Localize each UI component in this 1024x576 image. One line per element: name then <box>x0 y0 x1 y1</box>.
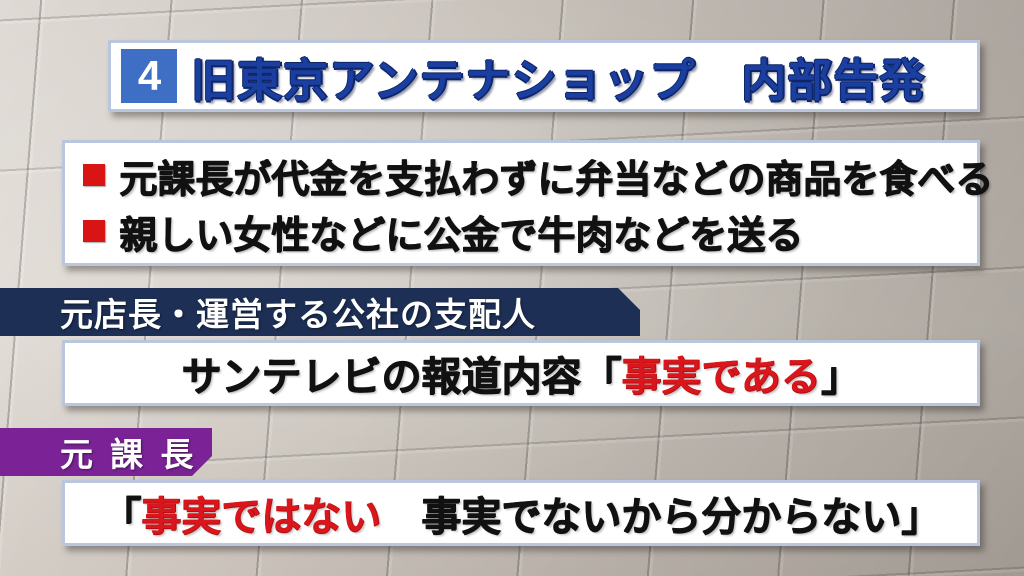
quote-segment-highlight: 事実ではない <box>141 495 381 539</box>
title-panel: 4 旧東京アンテナショップ 内部告発 <box>108 40 980 112</box>
square-bullet-icon <box>83 164 105 186</box>
list-item: 親しい女性などに公金で牛肉などを送る <box>83 203 803 259</box>
bullet-item-label: 親しい女性などに公金で牛肉などを送る <box>119 204 803 259</box>
topic-number-badge: 4 <box>121 49 177 103</box>
bullet-list-panel: 元課長が代金を支払わずに弁当などの商品を食べる 親しい女性などに公金で牛肉などを… <box>62 140 980 266</box>
bullet-item-label: 元課長が代金を支払わずに弁当などの商品を食べる <box>119 148 993 203</box>
quote-panel-former-store-manager: サンテレビの報道内容「事実である」 <box>62 340 980 406</box>
speaker-label-former-section-chief: 元 課 長 <box>0 428 212 476</box>
quote-text: 「事実ではない 事実でないから分からない」 <box>101 484 941 542</box>
quote-segment: 「 <box>101 495 141 539</box>
quote-panel-former-section-chief: 「事実ではない 事実でないから分からない」 <box>62 480 980 546</box>
square-bullet-icon <box>83 220 105 242</box>
quote-segment-highlight: 事実である <box>621 355 821 399</box>
quote-segment: 事実でないから分からない」 <box>381 495 941 539</box>
quote-segment: サンテレビの報道内容「 <box>181 355 621 399</box>
quote-segment: 」 <box>821 355 861 399</box>
speaker-label-former-store-manager: 元店長・運営する公社の支配人 <box>0 288 640 336</box>
broadcast-graphic-stage: 4 旧東京アンテナショップ 内部告発 元課長が代金を支払わずに弁当などの商品を食… <box>0 0 1024 576</box>
page-title: 旧東京アンテナショップ 内部告発 <box>191 44 925 109</box>
quote-text: サンテレビの報道内容「事実である」 <box>181 344 861 402</box>
list-item: 元課長が代金を支払わずに弁当などの商品を食べる <box>83 147 993 203</box>
